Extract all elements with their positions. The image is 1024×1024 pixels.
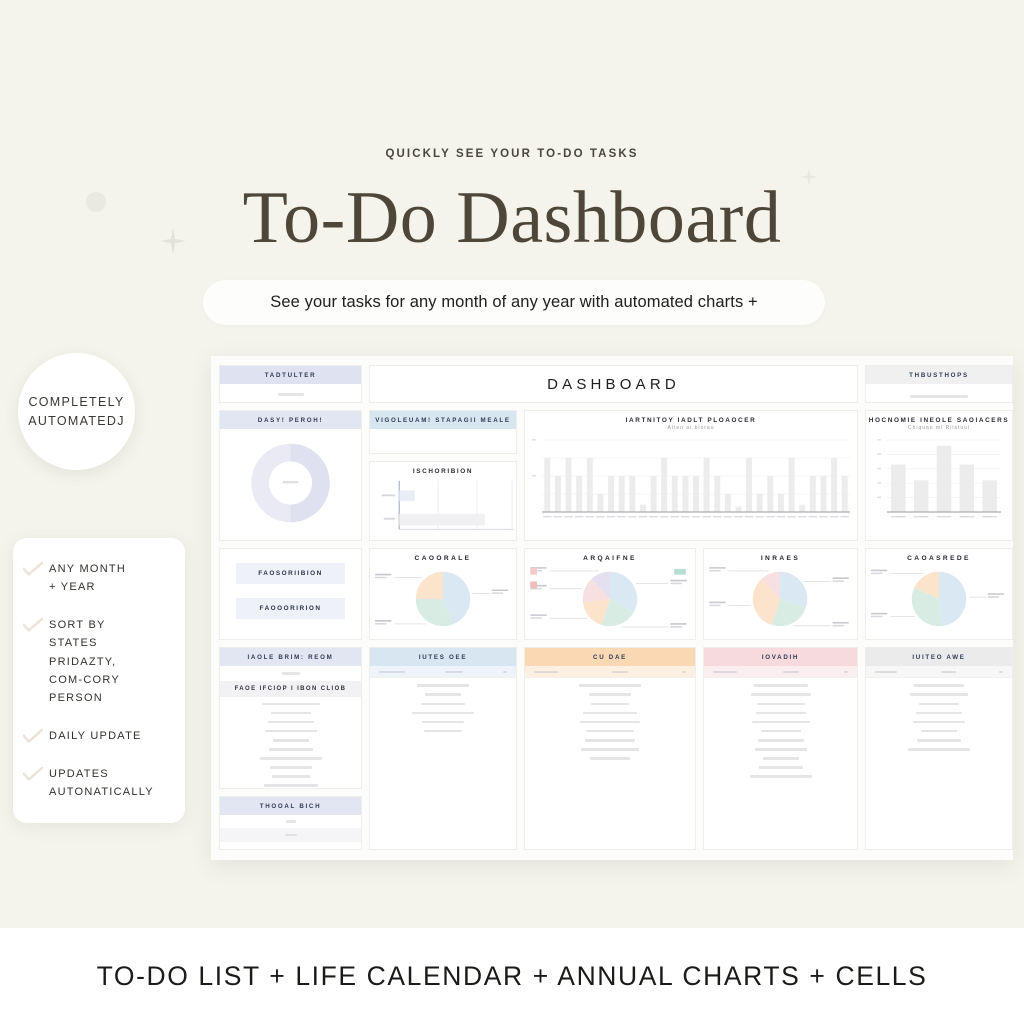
list-item[interactable]	[425, 693, 461, 696]
list-head-2	[370, 666, 516, 678]
list-item[interactable]	[585, 739, 635, 742]
tasks-stat-caption: THBUSTHOPS	[866, 366, 1012, 384]
pie-title-3: INRAES	[704, 549, 857, 564]
list-item[interactable]	[752, 721, 810, 724]
tasks-stat-card[interactable]: THBUSTHOPS	[865, 365, 1013, 403]
list-item[interactable]	[591, 703, 629, 706]
list-item[interactable]	[268, 721, 314, 724]
donut-chart	[220, 429, 361, 537]
pie-card-2[interactable]: ARQAIFNE	[524, 548, 696, 640]
list-caption-3: CU DAE	[525, 648, 695, 666]
weekly-bar-chart	[866, 434, 1012, 526]
list-item[interactable]	[757, 703, 805, 706]
list-rows-2	[370, 678, 516, 745]
list-head-5	[866, 666, 1012, 678]
footer-banner: TO-DO LIST + LIFE CALENDAR + ANNUAL CHAR…	[0, 928, 1024, 1024]
hbar-title: ISCHORIBION	[370, 462, 516, 476]
status-bar-caption: VIGOLEUAM! STAPAGII MEALE	[370, 411, 516, 429]
list-card-3[interactable]: CU DAE	[524, 647, 696, 850]
list-rows-1	[220, 697, 361, 789]
list-item[interactable]	[758, 739, 804, 742]
list-item[interactable]	[579, 684, 641, 687]
feature-row: UPDATES AUTONATICALLY	[23, 765, 171, 801]
task-filter-caption: TADTULTER	[220, 366, 361, 384]
list-rows-3	[525, 678, 695, 772]
tasks-stat-body	[866, 384, 1012, 403]
list-card-4[interactable]: IOVADIH	[703, 647, 858, 850]
pie-chart-1	[370, 564, 516, 634]
check-icon	[23, 765, 49, 782]
feature-label: ANY MONTH + YEAR	[49, 560, 126, 596]
pie-card-1[interactable]: CAOORALE	[369, 548, 517, 640]
pie-card-4[interactable]: CAOASREDE	[865, 548, 1013, 640]
dashboard-title-card: DASHBOARD	[369, 365, 858, 403]
list-caption-1: IAOLE BRIM: REOM	[220, 648, 361, 666]
monthly-bar-chart	[525, 434, 857, 526]
list-item[interactable]	[756, 712, 806, 715]
cta-label: See your tasks for any month of any year…	[270, 293, 757, 312]
feature-list: ANY MONTH + YEARSORT BY STATES PRIDAZTY,…	[13, 538, 185, 823]
list-item[interactable]	[271, 712, 311, 715]
list-item[interactable]	[265, 730, 317, 733]
weekly-chart-title: HOCNOMIE INEOLE SAOIACERS	[866, 411, 1012, 425]
list-item[interactable]	[424, 730, 462, 733]
total-caption: THOOAL BICH	[220, 797, 361, 815]
monthly-chart-card[interactable]: IARTNITOY IADLT PLOAOCER Alten ai blorau	[524, 410, 858, 541]
dashboard-title: DASHBOARD	[547, 376, 680, 393]
check-icon	[23, 560, 49, 577]
list-item[interactable]	[590, 757, 630, 760]
list-item[interactable]	[917, 739, 961, 742]
filter-buttons-card: FAOSORIIBION FAOOORIRION	[219, 548, 362, 640]
badge-line-2: AUTOMATEDJ	[28, 412, 125, 431]
list-rows-5	[866, 678, 1012, 763]
list-item[interactable]	[580, 721, 640, 724]
list-head-4	[704, 666, 857, 678]
list-item[interactable]	[913, 721, 965, 724]
list-item[interactable]	[919, 703, 959, 706]
list-subhead-1: FAOE IFCIOP I IBON CLIOB	[220, 681, 361, 697]
check-icon	[23, 727, 49, 744]
list-item[interactable]	[260, 757, 322, 760]
pie-title-2: ARQAIFNE	[525, 549, 695, 564]
feature-row: SORT BY STATES PRIDAZTY, COM-CORY PERSON	[23, 616, 171, 707]
left-lists-column: IAOLE BRIM: REOM FAOE IFCIOP I IBON CLIO…	[219, 647, 362, 850]
list-item[interactable]	[759, 766, 803, 769]
task-filter-body	[220, 384, 361, 403]
task-filter-card[interactable]: TADTULTER	[219, 365, 362, 403]
pie-title-1: CAOORALE	[370, 549, 516, 564]
pie-chart-2	[525, 564, 695, 634]
list-caption-5: IUITEO AWE	[866, 648, 1012, 666]
list-card-2[interactable]: IUTES OEE	[369, 647, 517, 850]
pie-title-4: CAOASREDE	[866, 549, 1012, 564]
cta-pill[interactable]: See your tasks for any month of any year…	[203, 280, 825, 325]
donut-caption: DASY! PEROH!	[220, 411, 361, 429]
list-rows-4	[704, 678, 857, 790]
eyebrow-text: QUICKLY SEE YOUR TO-DO TASKS	[0, 148, 1024, 160]
filter-button-1[interactable]: FAOSORIIBION	[236, 563, 345, 584]
hbar-card[interactable]: ISCHORIBION	[369, 461, 517, 541]
list-item[interactable]	[581, 748, 639, 751]
list-item[interactable]	[264, 784, 318, 787]
list-card-5[interactable]: IUITEO AWE	[865, 647, 1013, 850]
list-item[interactable]	[273, 739, 309, 742]
list-item[interactable]	[586, 730, 634, 733]
feature-label: UPDATES AUTONATICALLY	[49, 765, 154, 801]
donut-card[interactable]: DASY! PEROH!	[219, 410, 362, 541]
list-caption-2: IUTES OEE	[370, 648, 516, 666]
status-and-hbar-column: VIGOLEUAM! STAPAGII MEALE ISCHORIBION	[369, 410, 517, 541]
badge-line-1: COMPLETELY	[28, 393, 124, 412]
list-item[interactable]	[422, 721, 464, 724]
monthly-chart-title: IARTNITOY IADLT PLOAOCER	[525, 411, 857, 425]
list-item[interactable]	[750, 775, 812, 778]
list-item[interactable]	[412, 712, 474, 715]
weekly-chart-subtitle: Chiquan ml Riistuul	[866, 425, 1012, 434]
dashboard-sheet: TADTULTER DASHBOARD THBUSTHOPS DASY! PER…	[211, 356, 1013, 860]
list-item[interactable]	[916, 712, 962, 715]
list-item[interactable]	[761, 730, 801, 733]
list-item[interactable]	[270, 766, 312, 769]
list-item[interactable]	[751, 693, 811, 696]
list-item[interactable]	[914, 684, 964, 687]
feature-label: SORT BY STATES PRIDAZTY, COM-CORY PERSON	[49, 616, 120, 707]
pie-chart-4	[866, 564, 1012, 634]
horizontal-bar-chart	[370, 476, 516, 538]
list-card-1[interactable]: IAOLE BRIM: REOM FAOE IFCIOP I IBON CLIO…	[219, 647, 362, 789]
filter-button-2[interactable]: FAOOORIRION	[236, 598, 345, 619]
list-item[interactable]	[755, 748, 807, 751]
check-icon	[23, 616, 49, 633]
list-item[interactable]	[754, 684, 808, 687]
list-item[interactable]	[269, 748, 313, 751]
list-item[interactable]	[583, 712, 637, 715]
list-item[interactable]	[763, 757, 799, 760]
list-item[interactable]	[589, 693, 631, 696]
page-title: To-Do Dashboard	[0, 178, 1024, 259]
total-card[interactable]: THOOAL BICH	[219, 796, 362, 850]
feature-row: ANY MONTH + YEAR	[23, 560, 171, 596]
feature-row: DAILY UPDATE	[23, 727, 171, 745]
list-item[interactable]	[272, 775, 310, 778]
monthly-chart-subtitle: Alten ai blorau	[525, 425, 857, 434]
feature-label: DAILY UPDATE	[49, 727, 142, 745]
list-item[interactable]	[910, 693, 968, 696]
list-item[interactable]	[262, 703, 320, 706]
list-item[interactable]	[908, 748, 970, 751]
list-item[interactable]	[921, 730, 957, 733]
list-head-3	[525, 666, 695, 678]
status-bar-card[interactable]: VIGOLEUAM! STAPAGII MEALE	[369, 410, 517, 454]
list-item[interactable]	[417, 684, 469, 687]
list-caption-4: IOVADIH	[704, 648, 857, 666]
list-item[interactable]	[421, 703, 465, 706]
completely-automated-badge: COMPLETELY AUTOMATEDJ	[18, 353, 135, 470]
weekly-chart-card[interactable]: HOCNOMIE INEOLE SAOIACERS Chiquan ml Rii…	[865, 410, 1013, 541]
pie-chart-3	[704, 564, 857, 634]
pie-card-3[interactable]: INRAES	[703, 548, 858, 640]
footer-text: TO-DO LIST + LIFE CALENDAR + ANNUAL CHAR…	[97, 961, 928, 992]
